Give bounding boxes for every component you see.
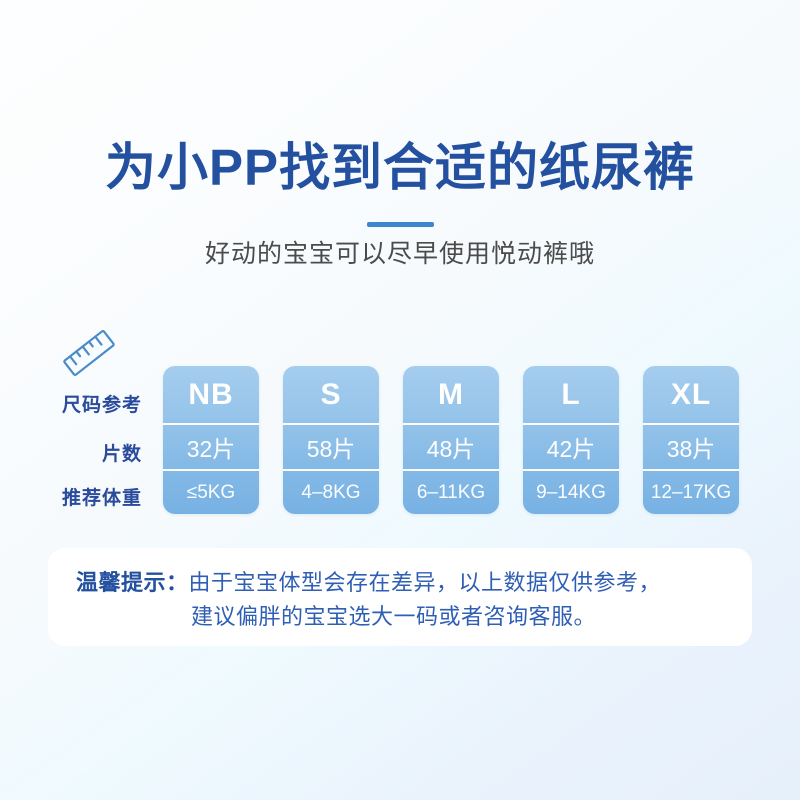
size-card-label: L (523, 366, 619, 423)
size-card-weight: 12–17KG (643, 469, 739, 514)
size-card-xl[interactable]: XL 38片 12–17KG (643, 366, 739, 514)
size-card-count: 42片 (523, 423, 619, 469)
tip-label: 温馨提示： (76, 566, 189, 600)
tip-box: 温馨提示： 由于宝宝体型会存在差异，以上数据仅供参考， 建议偏胖的宝宝选大一码或… (48, 548, 752, 646)
tip-text-line2: 建议偏胖的宝宝选大一码或者咨询客服。 (76, 600, 730, 634)
size-card-weight: 9–14KG (523, 469, 619, 514)
size-card-l[interactable]: L 42片 9–14KG (523, 366, 619, 514)
size-card-label: S (283, 366, 379, 423)
title-divider (367, 222, 434, 227)
row-label-weight: 推荐体重 (30, 483, 142, 510)
size-guide-page: 为小PP找到合适的纸尿裤 好动的宝宝可以尽早使用悦动裤哦 尺码参考 片数 推荐体… (0, 0, 800, 800)
size-card-count: 58片 (283, 423, 379, 469)
size-card-m[interactable]: M 48片 6–11KG (403, 366, 499, 514)
size-table-row-labels: 尺码参考 片数 推荐体重 (30, 366, 142, 514)
size-table: 尺码参考 片数 推荐体重 NB 32片 ≤5KG S 58片 4–8KG M 4… (0, 366, 800, 516)
size-card-count: 48片 (403, 423, 499, 469)
size-card-label: XL (643, 366, 739, 423)
size-card-count: 32片 (163, 423, 259, 469)
size-card-weight: 6–11KG (403, 469, 499, 514)
size-card-weight: 4–8KG (283, 469, 379, 514)
tip-first-line: 温馨提示： 由于宝宝体型会存在差异，以上数据仅供参考， (76, 566, 730, 600)
page-subtitle: 好动的宝宝可以尽早使用悦动裤哦 (0, 237, 800, 271)
tip-text-line1: 由于宝宝体型会存在差异，以上数据仅供参考， (189, 566, 662, 600)
size-card-count: 38片 (643, 423, 739, 469)
row-label-size: 尺码参考 (30, 390, 142, 417)
size-card-label: NB (163, 366, 259, 423)
size-card-s[interactable]: S 58片 4–8KG (283, 366, 379, 514)
header: 为小PP找到合适的纸尿裤 好动的宝宝可以尽早使用悦动裤哦 (0, 138, 800, 271)
size-card-weight: ≤5KG (163, 469, 259, 514)
size-card-label: M (403, 366, 499, 423)
page-title: 为小PP找到合适的纸尿裤 (0, 138, 800, 198)
size-card-nb[interactable]: NB 32片 ≤5KG (163, 366, 259, 514)
size-cards: NB 32片 ≤5KG S 58片 4–8KG M 48片 6–11KG L 4… (163, 366, 739, 514)
title-divider-wrap (0, 214, 800, 224)
row-label-count: 片数 (30, 439, 142, 466)
